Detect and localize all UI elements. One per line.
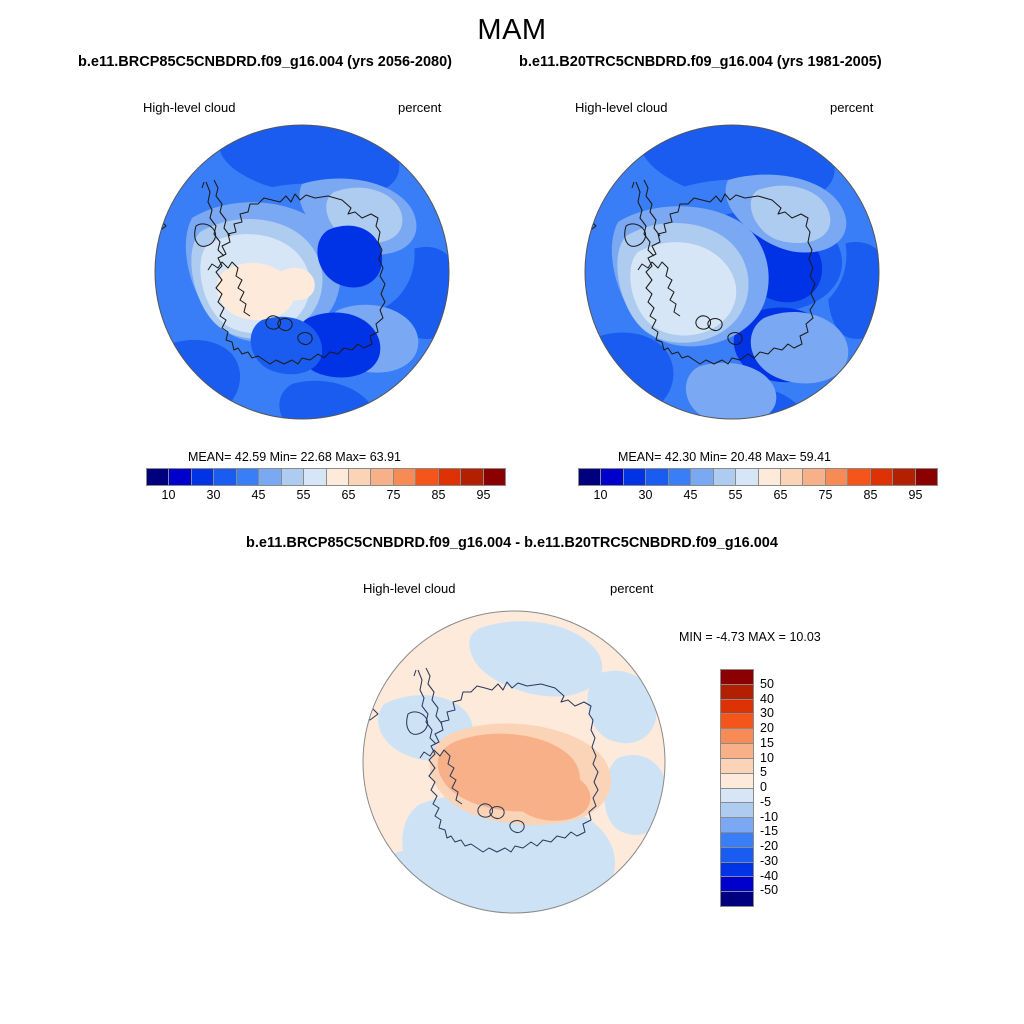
colorbar-cell	[721, 700, 753, 715]
colorbar-cell	[349, 469, 371, 485]
colorbar-tick-label: 65	[342, 488, 356, 502]
colorbar-tick-label: 75	[819, 488, 833, 502]
right-stats-line: MEAN= 42.30 Min= 20.48 Max= 59.41	[618, 450, 831, 464]
colorbar-cell	[416, 469, 438, 485]
colorbar-cell	[721, 892, 753, 906]
left-stats-line: MEAN= 42.59 Min= 22.68 Max= 63.91	[188, 450, 401, 464]
colorbar-cell	[461, 469, 483, 485]
colorbar-tick-label: 10	[760, 751, 774, 765]
colorbar-tick-label: -50	[760, 883, 778, 897]
colorbar-cell	[259, 469, 281, 485]
diff-variable-label: High-level cloud	[363, 581, 456, 596]
colorbar-cell	[759, 469, 781, 485]
colorbar-cell	[714, 469, 736, 485]
right-panel-subtitle: b.e11.B20TRC5CNBDRD.f09_g16.004 (yrs 198…	[519, 54, 882, 70]
right-colorbar[interactable]	[578, 468, 938, 486]
colorbar-cell	[721, 833, 753, 848]
colorbar-tick-label: -10	[760, 810, 778, 824]
colorbar-tick-label: 30	[639, 488, 653, 502]
colorbar-cell	[691, 469, 713, 485]
colorbar-cell	[579, 469, 601, 485]
colorbar-tick-label: 95	[909, 488, 923, 502]
colorbar-tick-label: -20	[760, 839, 778, 853]
colorbar-cell	[237, 469, 259, 485]
colorbar-cell	[803, 469, 825, 485]
left-colorbar-ticks: 1030455565758595	[146, 488, 504, 504]
colorbar-cell	[721, 818, 753, 833]
colorbar-cell	[214, 469, 236, 485]
colorbar-tick-label: 0	[760, 780, 767, 794]
left-polar-map	[152, 122, 452, 422]
diff-stats-line: MIN = -4.73 MAX = 10.03	[679, 630, 821, 644]
difference-panel-subtitle: b.e11.BRCP85C5CNBDRD.f09_g16.004 - b.e11…	[0, 535, 1024, 551]
page-title: MAM	[0, 14, 1024, 47]
left-unit-label: percent	[398, 100, 441, 115]
colorbar-tick-label: -5	[760, 795, 771, 809]
colorbar-tick-label: 55	[297, 488, 311, 502]
colorbar-cell	[147, 469, 169, 485]
colorbar-cell	[916, 469, 937, 485]
colorbar-tick-label: 85	[432, 488, 446, 502]
colorbar-cell	[304, 469, 326, 485]
colorbar-cell	[624, 469, 646, 485]
colorbar-cell	[826, 469, 848, 485]
colorbar-tick-label: 55	[729, 488, 743, 502]
colorbar-cell	[848, 469, 870, 485]
difference-colorbar[interactable]	[720, 669, 754, 907]
right-variable-label: High-level cloud	[575, 100, 668, 115]
colorbar-tick-label: 65	[774, 488, 788, 502]
colorbar-tick-label: 85	[864, 488, 878, 502]
colorbar-cell	[721, 848, 753, 863]
colorbar-tick-label: 20	[760, 721, 774, 735]
colorbar-tick-label: 15	[760, 736, 774, 750]
colorbar-tick-label: -40	[760, 869, 778, 883]
colorbar-tick-label: -15	[760, 824, 778, 838]
colorbar-tick-label: 10	[594, 488, 608, 502]
right-unit-label: percent	[830, 100, 873, 115]
colorbar-tick-label: 30	[760, 706, 774, 720]
colorbar-tick-label: 75	[387, 488, 401, 502]
colorbar-cell	[721, 877, 753, 892]
left-colorbar[interactable]	[146, 468, 506, 486]
colorbar-tick-label: 40	[760, 692, 774, 706]
difference-polar-map	[360, 608, 668, 916]
colorbar-cell	[721, 863, 753, 878]
colorbar-cell	[669, 469, 691, 485]
colorbar-tick-label: 95	[477, 488, 491, 502]
right-colorbar-ticks: 1030455565758595	[578, 488, 936, 504]
diff-unit-label: percent	[610, 581, 653, 596]
colorbar-tick-label: 30	[207, 488, 221, 502]
colorbar-cell	[871, 469, 893, 485]
colorbar-cell	[721, 729, 753, 744]
left-variable-label: High-level cloud	[143, 100, 236, 115]
colorbar-cell	[893, 469, 915, 485]
colorbar-cell	[327, 469, 349, 485]
colorbar-cell	[721, 759, 753, 774]
colorbar-cell	[721, 714, 753, 729]
colorbar-cell	[721, 685, 753, 700]
right-polar-map	[582, 122, 882, 422]
left-panel-subtitle: b.e11.BRCP85C5CNBDRD.f09_g16.004 (yrs 20…	[78, 54, 452, 70]
colorbar-cell	[721, 744, 753, 759]
colorbar-tick-label: -30	[760, 854, 778, 868]
colorbar-cell	[282, 469, 304, 485]
colorbar-cell	[721, 803, 753, 818]
colorbar-cell	[484, 469, 505, 485]
colorbar-tick-label: 45	[252, 488, 266, 502]
colorbar-cell	[736, 469, 758, 485]
colorbar-cell	[721, 670, 753, 685]
colorbar-tick-label: 10	[162, 488, 176, 502]
colorbar-cell	[371, 469, 393, 485]
colorbar-cell	[394, 469, 416, 485]
colorbar-tick-label: 45	[684, 488, 698, 502]
colorbar-cell	[646, 469, 668, 485]
colorbar-tick-label: 5	[760, 765, 767, 779]
colorbar-cell	[169, 469, 191, 485]
colorbar-tick-label: 50	[760, 677, 774, 691]
colorbar-cell	[439, 469, 461, 485]
colorbar-cell	[192, 469, 214, 485]
colorbar-cell	[721, 774, 753, 789]
colorbar-cell	[601, 469, 623, 485]
colorbar-cell	[781, 469, 803, 485]
colorbar-cell	[721, 789, 753, 804]
